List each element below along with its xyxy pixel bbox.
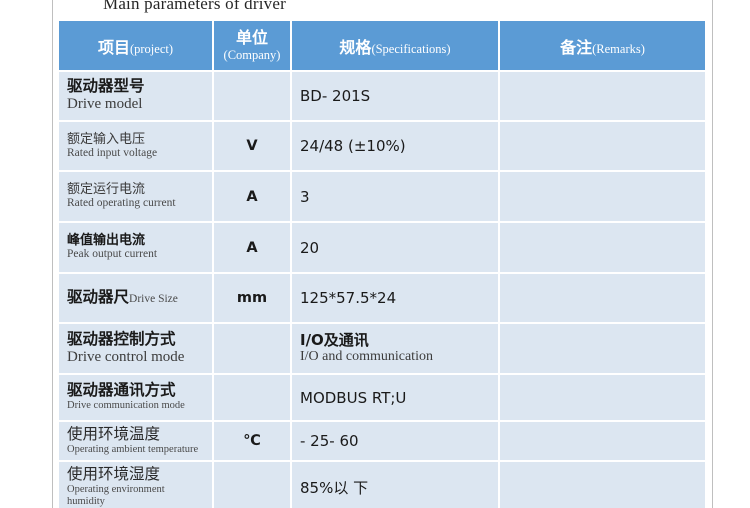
row-label-operating-ambient-temperature: 使用环境温度 Operating ambient temperature — [59, 422, 212, 460]
column-header-specifications: 规格(Specifications) — [292, 21, 498, 70]
row-label-cn: 使用环境温度 — [67, 426, 204, 444]
row-unit: A — [214, 223, 290, 272]
row-label-drive-communication-mode: 驱动器通讯方式 Drive communication mode — [59, 375, 212, 420]
row-label-en: Operating environment humidity — [67, 484, 204, 508]
row-value: 20 — [292, 223, 498, 272]
table-row: 峰值输出电流 Peak output current A 20 — [59, 223, 705, 272]
row-label-cn: 驱动器尺 — [67, 288, 129, 306]
row-label-en: Drive communication mode — [67, 400, 204, 412]
row-value: 85%以 下 — [292, 462, 498, 508]
row-label-drive-size: 驱动器尺Drive Size — [59, 274, 212, 322]
page-title: Main parameters of driver — [103, 0, 286, 14]
row-value: MODBUS RT;U — [292, 375, 498, 420]
column-header-remarks-cn: 备注 — [560, 38, 592, 57]
row-label-en: Rated input voltage — [67, 147, 204, 160]
row-remarks — [500, 375, 705, 420]
row-remarks — [500, 422, 705, 460]
row-label-operating-environment-humidity: 使用环境湿度 Operating environment humidity — [59, 462, 212, 508]
row-unit: ℃ — [214, 422, 290, 460]
column-header-specifications-cn: 规格 — [339, 38, 371, 57]
row-value-en: I/O and communication — [300, 349, 490, 365]
row-value: I/O及通讯 I/O and communication — [292, 324, 498, 373]
page-root: Main parameters of driver 项目(project) 单位… — [0, 0, 750, 508]
row-value: 24/48 (±10%) — [292, 122, 498, 170]
row-label-cn: 驱动器控制方式 — [67, 331, 204, 349]
row-unit: V — [214, 122, 290, 170]
column-header-remarks: 备注(Remarks) — [500, 21, 705, 70]
table-row: 驱动器控制方式 Drive control mode I/O及通讯 I/O an… — [59, 324, 705, 373]
table-row: 驱动器尺Drive Size mm 125*57.5*24 — [59, 274, 705, 322]
table-row: 驱动器通讯方式 Drive communication mode MODBUS … — [59, 375, 705, 420]
row-remarks — [500, 172, 705, 221]
row-label-drive-model: 驱动器型号 Drive model — [59, 72, 212, 120]
row-label-cn: 驱动器型号 — [67, 78, 204, 96]
row-label-cn: 驱动器通讯方式 — [67, 382, 204, 400]
row-unit: A — [214, 172, 290, 221]
column-header-project-en: (project) — [130, 42, 173, 56]
row-label-rated-input-voltage: 额定输入电压 Rated input voltage — [59, 122, 212, 170]
table-row: 额定输入电压 Rated input voltage V 24/48 (±10%… — [59, 122, 705, 170]
table-row: 驱动器型号 Drive model BD- 201S — [59, 72, 705, 120]
row-remarks — [500, 462, 705, 508]
table-row: 使用环境温度 Operating ambient temperature ℃ -… — [59, 422, 705, 460]
driver-parameters-table: 项目(project) 单位 (Company) 规格(Specificatio… — [57, 19, 707, 508]
table-row: 使用环境湿度 Operating environment humidity 85… — [59, 462, 705, 508]
table-row: 额定运行电流 Rated operating current A 3 — [59, 172, 705, 221]
column-header-unit: 单位 (Company) — [214, 21, 290, 70]
table-header-row: 项目(project) 单位 (Company) 规格(Specificatio… — [59, 21, 705, 70]
right-margin-rule — [712, 0, 713, 508]
row-label-en: Rated operating current — [67, 197, 204, 210]
column-header-remarks-en: (Remarks) — [592, 42, 645, 56]
row-value-cn: I/O及通讯 — [300, 332, 490, 349]
row-value: 125*57.5*24 — [292, 274, 498, 322]
row-label-en: Drive control mode — [67, 349, 204, 366]
row-label-rated-operating-current: 额定运行电流 Rated operating current — [59, 172, 212, 221]
row-label-en: Peak output current — [67, 248, 204, 261]
row-label-cn: 额定输入电压 — [67, 132, 204, 147]
column-header-unit-cn: 单位 — [218, 29, 286, 47]
row-label-cn: 使用环境湿度 — [67, 466, 204, 484]
row-unit: mm — [214, 274, 290, 322]
row-label-cn: 峰值输出电流 — [67, 233, 204, 248]
row-label-en: Drive Size — [129, 293, 178, 305]
row-label-cn: 额定运行电流 — [67, 182, 204, 197]
row-label-peak-output-current: 峰值输出电流 Peak output current — [59, 223, 212, 272]
column-header-unit-en: (Company) — [218, 48, 286, 62]
left-margin-rule — [52, 0, 53, 508]
row-unit — [214, 324, 290, 373]
row-unit — [214, 72, 290, 120]
row-unit — [214, 462, 290, 508]
column-header-project-cn: 项目 — [98, 38, 130, 57]
column-header-project: 项目(project) — [59, 21, 212, 70]
row-label-en: Operating ambient temperature — [67, 444, 204, 456]
row-label-drive-control-mode: 驱动器控制方式 Drive control mode — [59, 324, 212, 373]
row-remarks — [500, 324, 705, 373]
row-value: 3 — [292, 172, 498, 221]
row-label-en: Drive model — [67, 96, 204, 113]
row-unit — [214, 375, 290, 420]
row-value: - 25- 60 — [292, 422, 498, 460]
column-header-specifications-en: (Specifications) — [371, 42, 450, 56]
row-remarks — [500, 122, 705, 170]
row-remarks — [500, 72, 705, 120]
row-remarks — [500, 274, 705, 322]
row-remarks — [500, 223, 705, 272]
row-value: BD- 201S — [292, 72, 498, 120]
